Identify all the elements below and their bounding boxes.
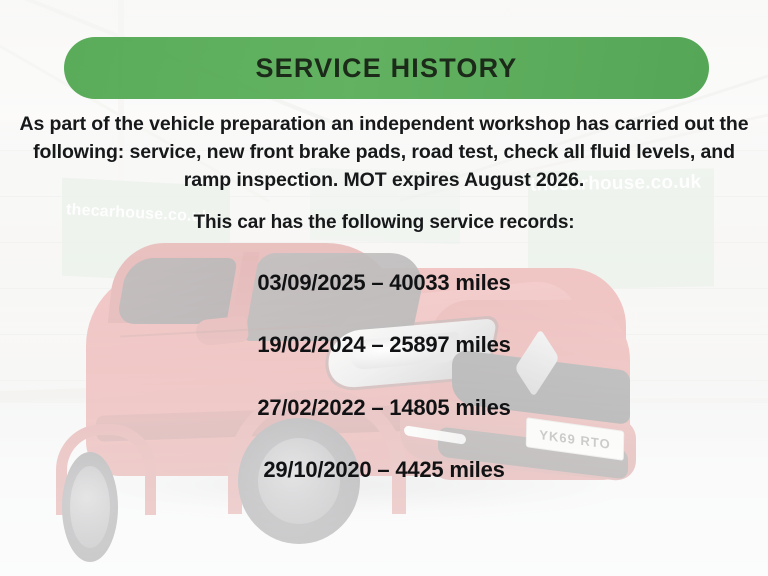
service-history-graphic: thecarhouse.co.uk thecarhouse.co.uk [0, 0, 768, 576]
service-record-row: 19/02/2024 – 25897 miles [10, 332, 758, 358]
service-record-row: 29/10/2020 – 4425 miles [10, 457, 758, 483]
service-record-row: 03/09/2025 – 40033 miles [10, 270, 758, 296]
title-banner: SERVICE HISTORY [64, 37, 709, 99]
intro-paragraph: As part of the vehicle preparation an in… [10, 110, 758, 194]
page-title: SERVICE HISTORY [255, 53, 517, 84]
overlay-content: SERVICE HISTORY As part of the vehicle p… [0, 0, 768, 576]
service-record-row: 27/02/2022 – 14805 miles [10, 395, 758, 421]
records-heading: This car has the following service recor… [10, 212, 758, 234]
